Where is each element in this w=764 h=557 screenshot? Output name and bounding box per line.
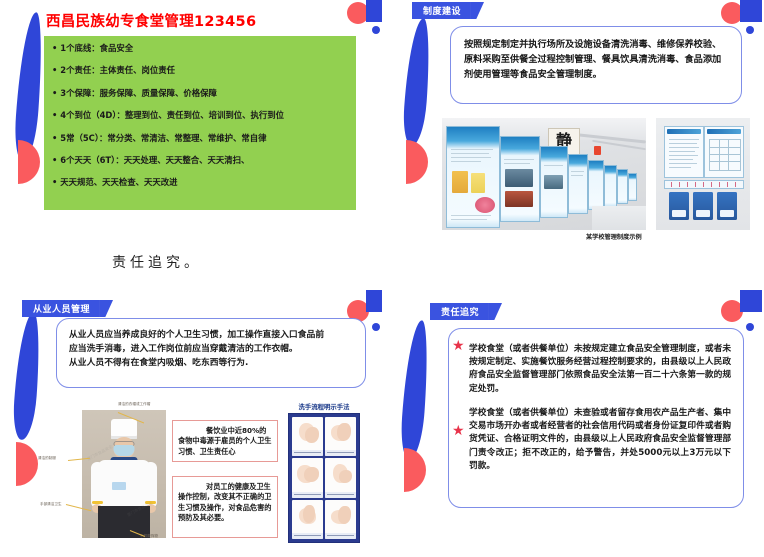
photo-chef-uniform: 厦门市食品安全 厦门市食品安全 [82, 410, 166, 538]
leaf-shape-decoration [402, 17, 433, 146]
section-tag-accountability: 责任追究 [430, 303, 502, 320]
small-blue-dot-decoration [746, 26, 754, 34]
callout-food-poisoning-stat: 餐饮业中近80%的食物中毒源于雇员的个人卫生习惯、卫生责任心 [172, 420, 278, 462]
callout-text: 对员工的健康及卫生操作控制，改变其不正确的卫生习惯及操作，对食品危害的预防及其必… [178, 482, 273, 524]
section-tag-institution: 制度建设 [412, 2, 484, 19]
certificate-badge [717, 192, 737, 220]
annotation-label: 清洁的衣帽或工作帽 [118, 402, 150, 406]
staff-callout-line: 从业人员应当养成良好的个人卫生习惯，加工操作直接入口食品前 [69, 329, 353, 343]
board-item [500, 136, 540, 222]
small-blue-dot-decoration [372, 26, 380, 34]
institution-callout: 按照规定制定并执行场所及设施设备清洗消毒、维修保养校验、原料采购至供餐全过程控制… [450, 26, 742, 104]
document-header-bar [667, 129, 701, 134]
document-panel [664, 126, 704, 178]
list-item: • 3个保障：服务保障、质量保障、价格保障 [52, 89, 350, 97]
callout-text: 餐饮业中近80%的食物中毒源于雇员的个人卫生习惯、卫生责任心 [178, 426, 273, 457]
tag-tail-shape [470, 2, 484, 19]
board-item [628, 173, 637, 201]
leaf-shape-decoration [399, 319, 431, 460]
handwash-step [325, 458, 356, 497]
board-item [617, 169, 628, 204]
half-disc-decoration [16, 442, 38, 486]
half-disc-decoration [18, 140, 40, 184]
slide-bottom-left: 从业人员管理 从业人员应当养成良好的个人卫生习惯，加工操作直接入口食品前 应当洗… [0, 290, 382, 557]
accountability-paragraph: 学校食堂（或者供餐单位）未按规定建立食品安全管理制度，或者未按规定制定、实施餐饮… [469, 343, 731, 396]
handwash-step [292, 500, 323, 539]
handwash-step [325, 500, 356, 539]
board-photo [505, 169, 533, 187]
board-photo [505, 191, 533, 207]
list-item: • 1个底线：食品安全 [52, 44, 350, 52]
staff-callout-line: 从业人员不得有在食堂内吸烟、吃东西等行为. [69, 357, 353, 371]
board-photo [452, 171, 468, 193]
slide-top-right: 制度建设 按照规定制定并执行场所及设施设备清洗消毒、维修保养校验、原料采购至供餐… [390, 0, 764, 245]
wristband-shape [92, 501, 103, 504]
staff-hygiene-callout: 从业人员应当养成良好的个人卫生习惯，加工操作直接入口食品前 应当洗手消毒，进入工… [56, 318, 366, 388]
name-badge-shape [112, 482, 126, 490]
tag-tail-shape [99, 300, 113, 317]
board-photo [471, 173, 485, 193]
handwash-step [292, 458, 323, 497]
board-item [540, 146, 568, 218]
small-blue-dot-decoration [746, 323, 754, 331]
board-item [568, 154, 588, 214]
institution-callout-text: 按照规定制定并执行场所及设施设备清洗消毒、维修保养校验、原料采购至供餐全过程控制… [464, 38, 728, 83]
document-panel [704, 126, 744, 178]
handwash-poster [288, 413, 360, 543]
counter-shape [592, 206, 646, 230]
leaf-shape-decoration [12, 311, 43, 440]
blue-square-decoration [366, 0, 382, 22]
board-photo [475, 197, 495, 213]
small-blue-dot-decoration [372, 323, 380, 331]
star-icon: ★ [452, 338, 465, 352]
section-tag-staff: 从业人员管理 [22, 300, 113, 317]
board-item [446, 126, 500, 228]
list-item: • 4个到位（4D）：整理到位、责任到位、培训到位、执行到位 [52, 111, 350, 119]
half-disc-decoration [404, 448, 426, 492]
slide-bottom-right: 责任追究 学校食堂（或者供餐单位）未按规定建立食品安全管理制度，或者未按规定制定… [390, 290, 764, 557]
list-item: • 2个责任：主体责任、岗位责任 [52, 66, 350, 74]
accountability-paragraph: 学校食堂（或者供餐单位）未查验或者留存食用农产品生产者、集中交易市场开办者或者经… [469, 407, 731, 473]
annotation-label: 清洁的制服 [38, 456, 56, 460]
board-photo [544, 175, 563, 189]
board-item [604, 165, 617, 207]
list-item: • 5常（5C）：常分类、常清洁、常整理、常维护、常自律 [52, 134, 350, 142]
photo-policy-documents [656, 118, 750, 230]
annotation-label: 手部清洁卫生 [40, 502, 62, 506]
callout-hygiene-control: 对员工的健康及卫生操作控制，改变其不正确的卫生习惯及操作，对食品危害的预防及其必… [172, 476, 278, 538]
stray-text-responsibility: 责任追究。 [112, 252, 202, 272]
document-table [709, 139, 741, 171]
blue-square-decoration [740, 290, 762, 312]
handwash-step [292, 417, 323, 456]
certificate-badge [669, 192, 689, 220]
list-item: • 天天规范、天天检查、天天改进 [52, 178, 350, 186]
page-title: 西昌民族幼专食堂管理123456 [46, 10, 256, 31]
list-item: • 6个天天（6T）：天天处理、天天整合、天天清扫、 [52, 156, 350, 164]
photo-caption: 某学校管理制度示例 [586, 232, 642, 241]
extinguisher-shape [594, 146, 601, 155]
chef-hat-shape [111, 419, 137, 439]
blue-square-decoration [366, 290, 382, 312]
staff-callout-line: 应当洗手消毒，进入工作岗位前应当穿戴清洁的工作衣帽。 [69, 343, 353, 357]
accountability-callout: 学校食堂（或者供餐单位）未按规定建立食品安全管理制度，或者未按规定制定、实施餐饮… [448, 328, 744, 508]
slide-top-left: 西昌民族幼专食堂管理123456 • 1个底线：食品安全 • 2个责任：主体责任… [0, 0, 382, 245]
document-header-bar [707, 129, 741, 134]
blue-square-decoration [740, 0, 762, 22]
face-mask-shape [114, 445, 135, 456]
board-item [588, 160, 604, 210]
star-icon: ★ [452, 423, 465, 437]
key-points-box: • 1个底线：食品安全 • 2个责任：主体责任、岗位责任 • 3个保障：服务保障… [44, 36, 356, 210]
notice-strip [664, 180, 744, 189]
section-tag-label: 制度建设 [412, 2, 470, 19]
tag-tail-shape [488, 303, 502, 320]
handwash-poster-title: 洗手流程明示手法 [288, 402, 360, 411]
section-tag-label: 责任追究 [430, 303, 488, 320]
handwash-step [325, 417, 356, 456]
half-disc-decoration [406, 140, 428, 184]
section-tag-label: 从业人员管理 [22, 300, 99, 317]
photo-bulletin-board-wall: 静 [442, 118, 646, 230]
certificate-badge [693, 192, 713, 220]
